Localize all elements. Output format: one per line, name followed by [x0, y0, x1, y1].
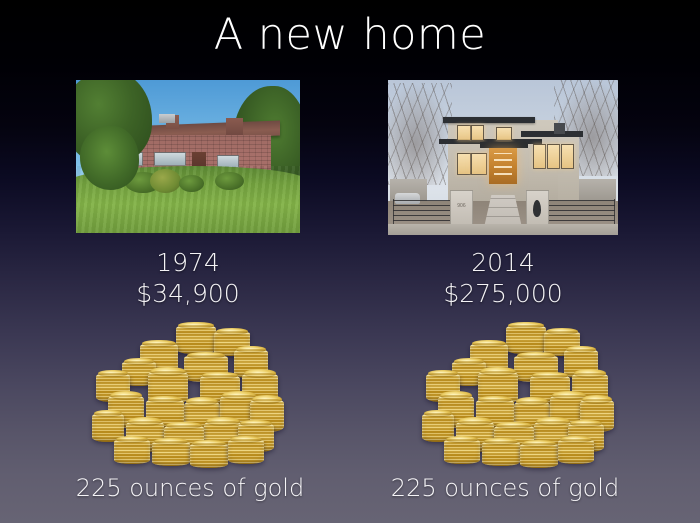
house-photo-2014: 906: [388, 80, 618, 235]
gold-pile-1974: [88, 320, 288, 470]
window-right-1: [533, 144, 547, 169]
coin-stack: [444, 438, 480, 464]
pillar-niche: [533, 200, 541, 217]
coin-stack: [482, 440, 520, 466]
window-upper-1: [457, 125, 471, 141]
gold-pile-2014: [418, 320, 618, 470]
roof-top: [443, 117, 535, 123]
coin-stack: [228, 438, 264, 464]
roof-right: [521, 131, 583, 136]
coin-stack: [114, 438, 150, 464]
chimney: [554, 123, 566, 134]
window-upper-3: [496, 127, 512, 141]
neighbor-house-right: [579, 179, 616, 201]
coin-stack: [176, 324, 216, 354]
fence-left: [393, 199, 453, 225]
coin-stack: [558, 438, 594, 464]
window-right-3: [561, 144, 575, 169]
gold-caption-1974: 225 ounces of gold: [30, 474, 350, 502]
coin-stack: [506, 324, 546, 354]
window-upper-2: [471, 125, 485, 141]
shrub-3: [179, 175, 204, 192]
window-lower-1: [457, 153, 471, 175]
chimney-b: [226, 118, 243, 136]
roof-unit: [159, 114, 175, 123]
address-number: 906: [451, 203, 472, 209]
price-label-1974: $34,900: [76, 279, 300, 310]
page-title: A new home: [0, 12, 700, 59]
coin-stack: [152, 440, 190, 466]
caption-2014: 2014 $275,000: [388, 248, 618, 309]
photo-2014-scene: 906: [388, 80, 618, 235]
window-2: [154, 152, 185, 166]
gate-pillar: [526, 190, 549, 229]
year-label-2014: 2014: [388, 248, 618, 279]
year-label-1974: 1974: [76, 248, 300, 279]
caption-1974: 1974 $34,900: [76, 248, 300, 309]
fence-right: [547, 199, 616, 225]
price-label-2014: $275,000: [388, 279, 618, 310]
window-lower-2: [471, 153, 487, 175]
coin-stack: [190, 442, 228, 468]
house-photo-1974: [76, 80, 300, 233]
slide: A new home: [0, 0, 700, 523]
tree-left-lower-icon: [80, 126, 138, 190]
sidewalk: [388, 224, 618, 235]
address-pillar: 906: [450, 190, 473, 229]
window-right-2: [547, 144, 561, 169]
bare-tree-left-icon: [388, 83, 452, 185]
photo-1974-scene: [76, 80, 300, 233]
coin-stack: [520, 442, 558, 468]
front-door: [489, 148, 517, 184]
gold-caption-2014: 225 ounces of gold: [345, 474, 665, 502]
shrub-4: [215, 172, 244, 190]
